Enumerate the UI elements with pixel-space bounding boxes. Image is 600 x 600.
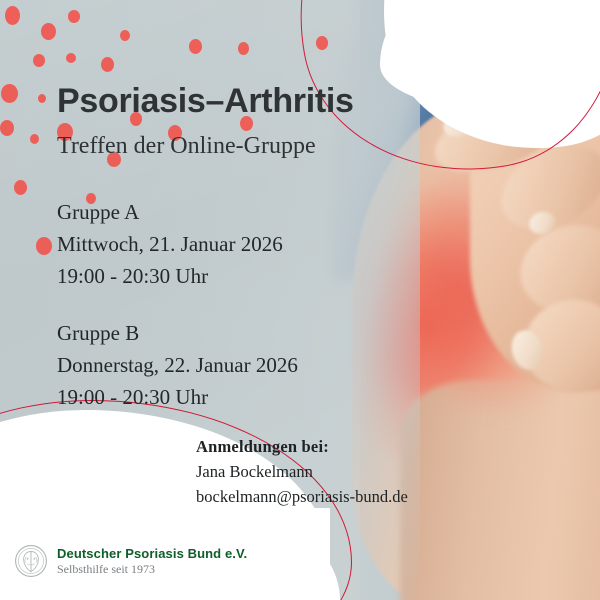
poster-canvas: Psoriasis–Arthritis Treffen der Online-G… [0, 0, 600, 600]
logo-text-group: Deutscher Psoriasis Bund e.V. Selbsthilf… [57, 547, 247, 575]
logo-organization-name: Deutscher Psoriasis Bund e.V. [57, 547, 247, 561]
poster-content: Psoriasis–Arthritis Treffen der Online-G… [0, 0, 600, 600]
group-a-name: Gruppe A [57, 196, 283, 228]
group-b-time: 19:00 - 20:30 Uhr [57, 381, 298, 413]
contact-heading: Anmeldungen bei: [196, 434, 408, 459]
group-b-date: Donnerstag, 22. Januar 2026 [57, 349, 298, 381]
group-b-name: Gruppe B [57, 317, 298, 349]
page-subtitle: Treffen der Online-Gruppe [57, 133, 316, 160]
logo-tagline: Selbsthilfe seit 1973 [57, 563, 247, 576]
two-faces-circle-emblem-icon [14, 544, 48, 578]
contact-block: Anmeldungen bei: Jana Bockelmann bockelm… [196, 434, 408, 509]
group-a-time: 19:00 - 20:30 Uhr [57, 260, 283, 292]
group-a-block: Gruppe A Mittwoch, 21. Januar 2026 19:00… [57, 196, 283, 292]
organization-logo: Deutscher Psoriasis Bund e.V. Selbsthilf… [14, 544, 247, 578]
contact-email[interactable]: bockelmann@psoriasis-bund.de [196, 484, 408, 509]
group-a-date: Mittwoch, 21. Januar 2026 [57, 228, 283, 260]
contact-person: Jana Bockelmann [196, 459, 408, 484]
page-title: Psoriasis–Arthritis [57, 82, 354, 121]
group-b-block: Gruppe B Donnerstag, 22. Januar 2026 19:… [57, 317, 298, 413]
